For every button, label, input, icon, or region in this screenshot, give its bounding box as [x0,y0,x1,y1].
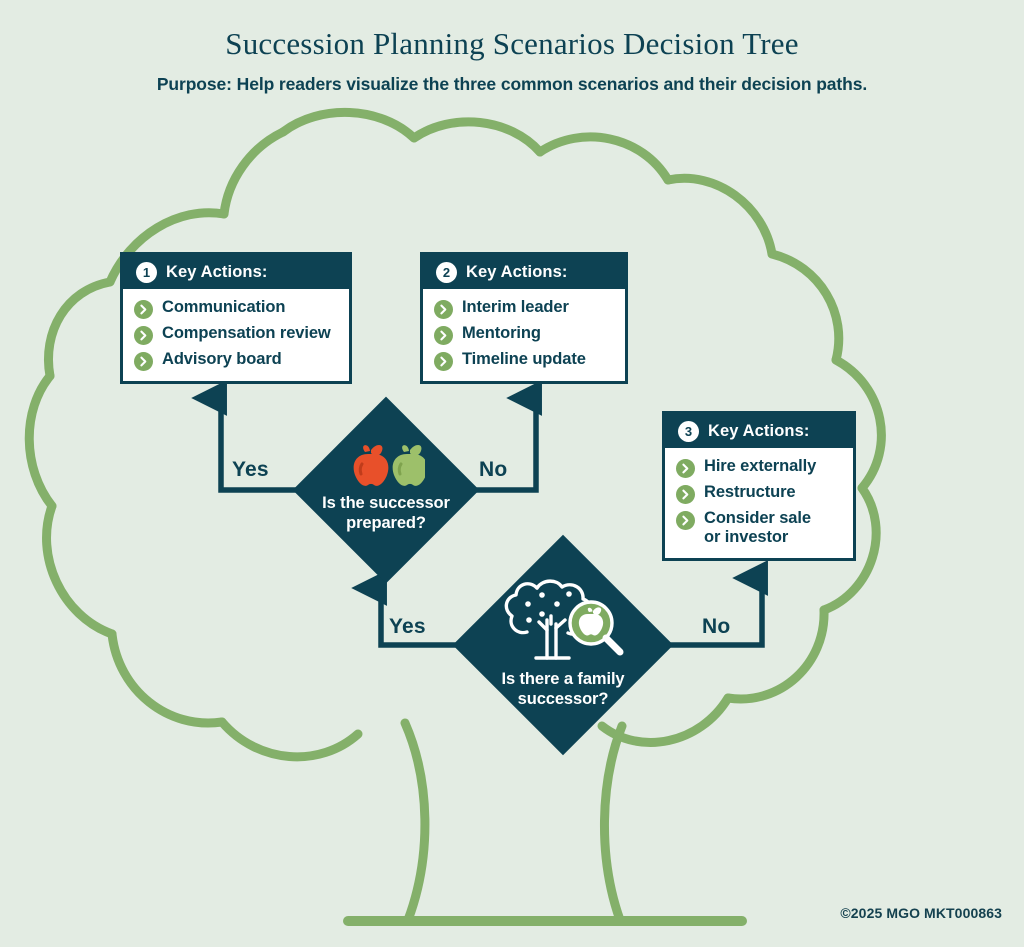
card-2-body: Interim leader Mentoring Timeline update [423,289,625,381]
decision-1-line1: Is the successor [322,494,450,512]
action-card-1[interactable]: 1 Key Actions: Communication Compensatio… [120,252,352,384]
decision-node-family-successor[interactable]: Is there a family successor? [485,567,641,723]
list-item-label: Communication [162,298,285,317]
list-item-label: Mentoring [462,324,541,343]
chevron-right-icon [434,352,453,371]
edge-label-q1-no: No [702,615,730,639]
list-item-label: Compensation review [162,324,331,343]
flow-connectors [0,0,1024,947]
list-item-label: Hire externally [704,457,816,476]
tree-magnifier-apple-icon [499,572,627,668]
card-2-heading: Key Actions: [466,263,567,282]
chevron-right-icon [676,459,695,478]
card-1-header: 1 Key Actions: [123,255,349,289]
card-2-number-badge: 2 [436,262,457,283]
list-item-label: Restructure [704,483,796,502]
infographic-canvas: Succession Planning Scenarios Decision T… [0,0,1024,947]
card-3-body: Hire externally Restructure Consider sal… [665,448,853,558]
edge-label-q2-no: No [479,458,507,482]
chevron-right-icon [134,352,153,371]
page-title: Succession Planning Scenarios Decision T… [0,26,1024,62]
chevron-right-icon [434,326,453,345]
list-item[interactable]: Compensation review [134,324,339,345]
decision-1-label: Is the successor prepared? [322,494,450,534]
list-item-label: Advisory board [162,350,282,369]
card-3-heading: Key Actions: [708,422,809,441]
card-1-body: Communication Compensation review Adviso… [123,289,349,381]
card-1-number-badge: 1 [136,262,157,283]
chevron-right-icon [676,485,695,504]
chevron-right-icon [676,511,695,530]
page-subtitle: Purpose: Help readers visualize the thre… [0,74,1024,95]
decision-2-line2: successor? [518,690,609,708]
copyright-notice: ©2025 MGO MKT000863 [840,905,1002,921]
card-3-number-badge: 3 [678,421,699,442]
list-item[interactable]: Restructure [676,483,843,504]
list-item[interactable]: Hire externally [676,457,843,478]
chevron-right-icon [134,326,153,345]
card-1-heading: Key Actions: [166,263,267,282]
action-card-3[interactable]: 3 Key Actions: Hire externally Restructu… [662,411,856,561]
list-item[interactable]: Advisory board [134,350,339,371]
list-item[interactable]: Mentoring [434,324,615,345]
list-item-label: Consider sale or investor [704,509,811,548]
card-2-header: 2 Key Actions: [423,255,625,289]
card-3-header: 3 Key Actions: [665,414,853,448]
list-item[interactable]: Interim leader [434,298,615,319]
two-apples-icon [347,442,425,490]
action-card-2[interactable]: 2 Key Actions: Interim leader Mentoring [420,252,628,384]
list-item-label: Timeline update [462,350,586,369]
list-item[interactable]: Consider sale or investor [676,509,843,548]
decision-1-line2: prepared? [346,514,426,532]
list-item[interactable]: Communication [134,298,339,319]
list-item-label: Interim leader [462,298,569,317]
decision-node-successor-prepared[interactable]: Is the successor prepared? [320,424,452,556]
decision-2-label: Is there a family successor? [501,670,624,710]
edge-label-q1-yes: Yes [389,615,426,639]
chevron-right-icon [434,300,453,319]
list-item[interactable]: Timeline update [434,350,615,371]
edge-label-q2-yes: Yes [232,458,269,482]
chevron-right-icon [134,300,153,319]
decision-2-line1: Is there a family [501,670,624,688]
